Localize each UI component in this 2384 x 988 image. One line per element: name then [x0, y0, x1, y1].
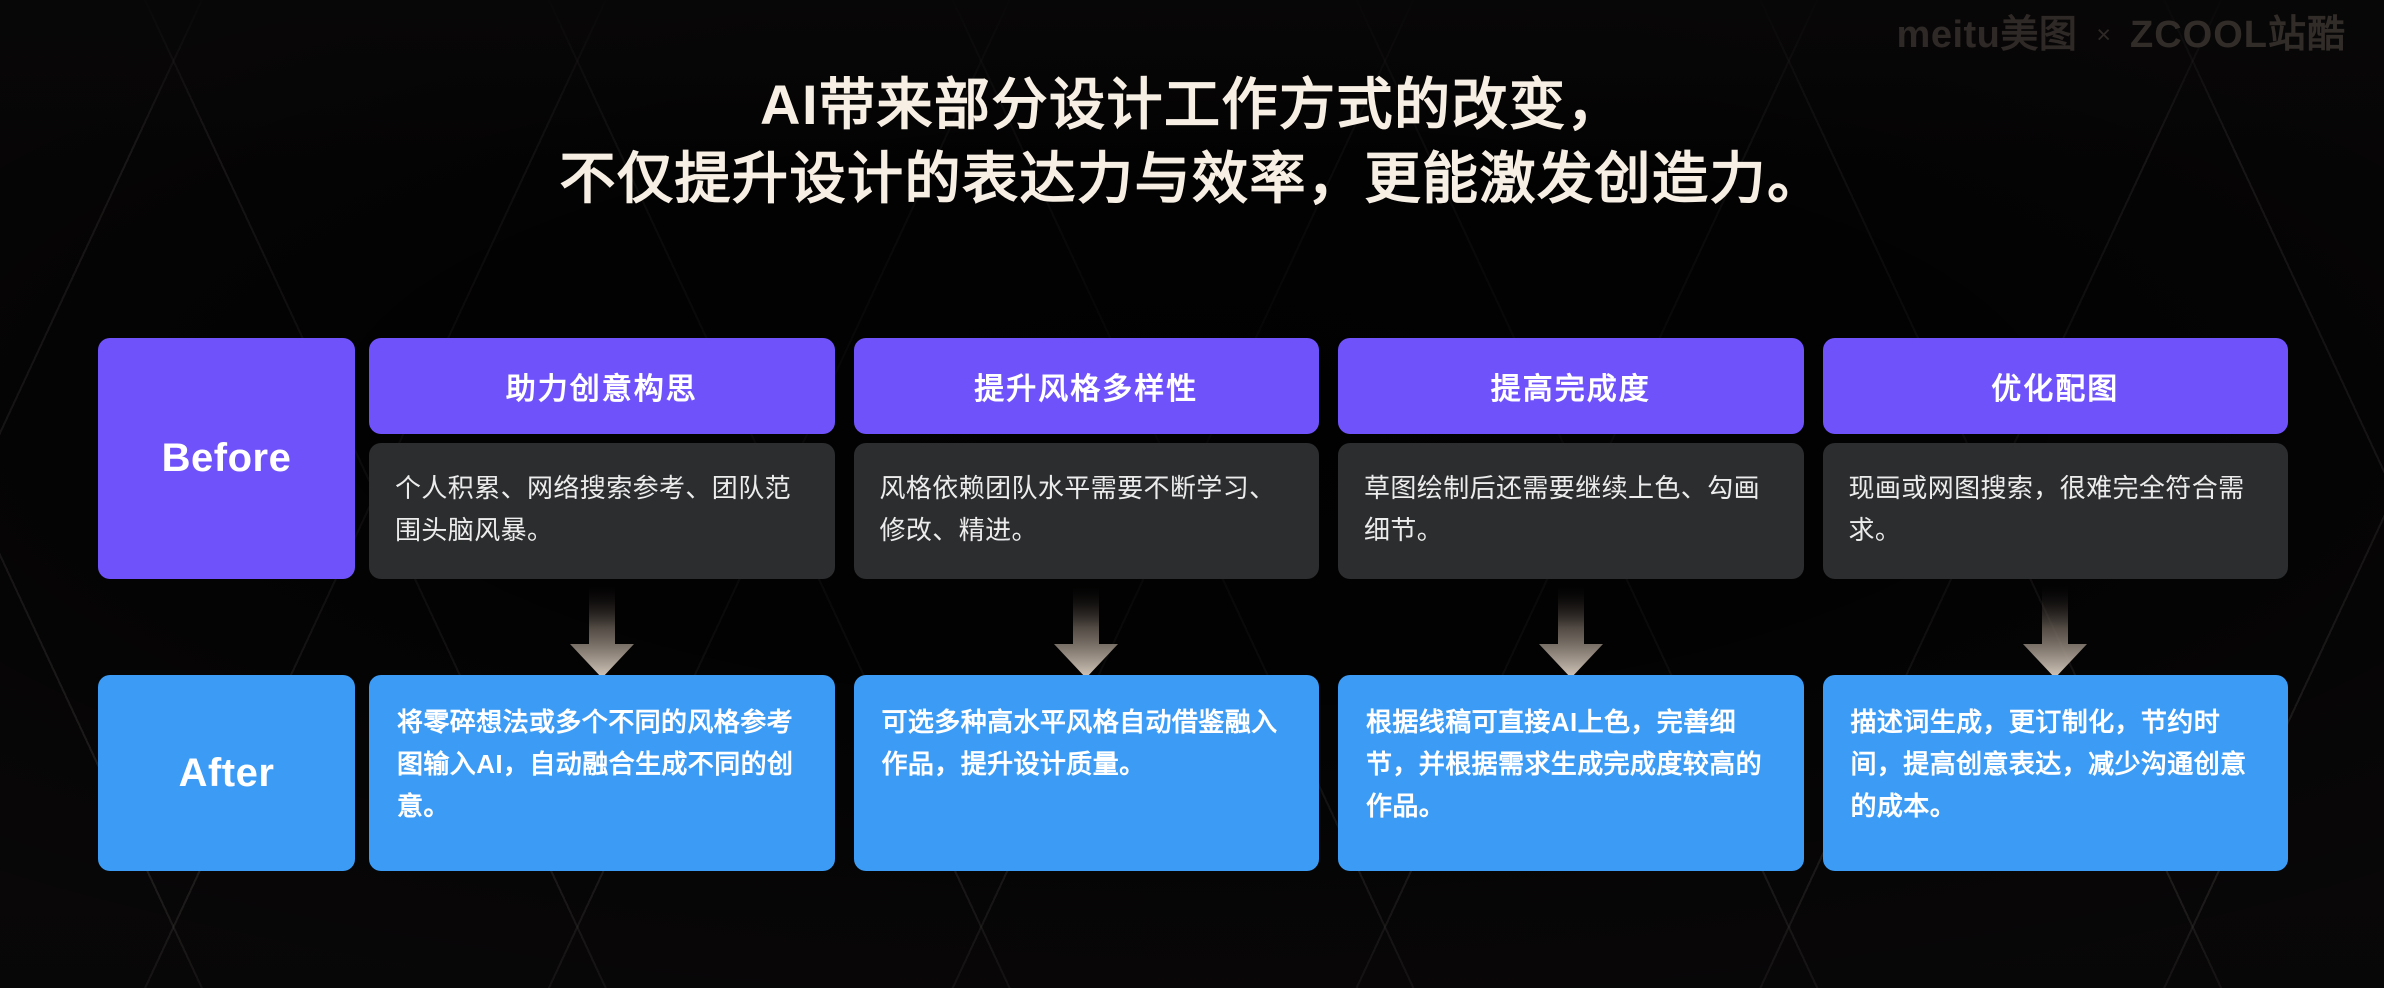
- title-line-2: 不仅提升设计的表达力与效率，更能激发创造力。: [0, 142, 2384, 216]
- brand-lockup: meitu美图 × ZCOOL站酷: [1897, 16, 2346, 54]
- after-label-box: After: [98, 675, 355, 871]
- before-label-box: Before: [98, 338, 355, 579]
- arrow-gap: [1823, 579, 2289, 675]
- before-card: 风格依赖团队水平需要不断学习、修改、精进。: [854, 443, 1320, 579]
- column-heading-chip: 提升风格多样性: [854, 338, 1320, 434]
- after-card: 可选多种高水平风格自动借鉴融入作品，提升设计质量。: [854, 675, 1320, 871]
- feature-column-1: 助力创意构思 个人积累、网络搜索参考、团队范围头脑风暴。 将零碎想法或多个不同的…: [369, 338, 835, 871]
- meitu-logo: meitu美图: [1897, 16, 2078, 54]
- feature-column-2: 提升风格多样性 风格依赖团队水平需要不断学习、修改、精进。 可选多种高水平风格自…: [854, 338, 1320, 871]
- arrow-gap: [854, 579, 1320, 675]
- column-heading-chip: 助力创意构思: [369, 338, 835, 434]
- feature-column-3: 提高完成度 草图绘制后还需要继续上色、勾画细节。 根据线稿可直接AI上色，完善细…: [1338, 338, 1804, 871]
- comparison-matrix: Before After 助力创意构思 个人积累、网络搜索参考、团队范围头脑风暴…: [98, 338, 2288, 871]
- title-line-1: AI带来部分设计工作方式的改变，: [0, 68, 2384, 142]
- feature-column-4: 优化配图 现画或网图搜索，很难完全符合需求。 描述词生成，更订制化，节约时间，提…: [1823, 338, 2289, 871]
- after-card: 描述词生成，更订制化，节约时间，提高创意表达，减少沟通创意的成本。: [1823, 675, 2289, 871]
- feature-columns: 助力创意构思 个人积累、网络搜索参考、团队范围头脑风暴。 将零碎想法或多个不同的…: [369, 338, 2288, 871]
- before-card: 现画或网图搜索，很难完全符合需求。: [1823, 443, 2289, 579]
- column-heading-chip: 提高完成度: [1338, 338, 1804, 434]
- arrow-gap: [1338, 579, 1804, 675]
- page-title: AI带来部分设计工作方式的改变， 不仅提升设计的表达力与效率，更能激发创造力。: [0, 68, 2384, 217]
- after-card: 根据线稿可直接AI上色，完善细节，并根据需求生成完成度较高的作品。: [1338, 675, 1804, 871]
- arrow-gap: [369, 579, 835, 675]
- before-card: 草图绘制后还需要继续上色、勾画细节。: [1338, 443, 1804, 579]
- zcool-logo: ZCOOL站酷: [2130, 16, 2346, 54]
- after-card: 将零碎想法或多个不同的风格参考图输入AI，自动融合生成不同的创意。: [369, 675, 835, 871]
- before-card: 个人积累、网络搜索参考、团队范围头脑风暴。: [369, 443, 835, 579]
- column-heading-chip: 优化配图: [1823, 338, 2289, 434]
- slide-canvas: meitu美图 × ZCOOL站酷 AI带来部分设计工作方式的改变， 不仅提升设…: [0, 0, 2384, 988]
- row-label-column: Before After: [98, 338, 355, 871]
- brand-separator-icon: ×: [2096, 23, 2111, 48]
